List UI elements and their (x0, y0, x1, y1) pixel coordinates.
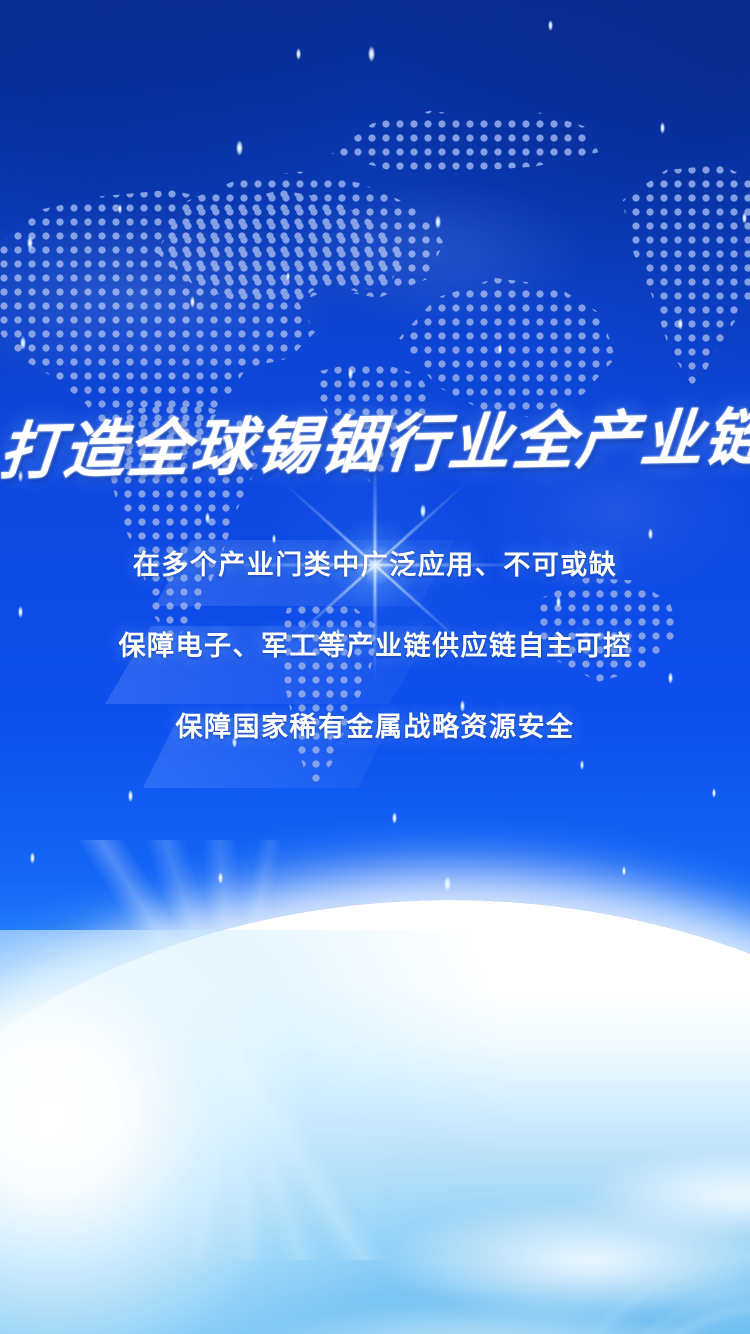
poster-content: 打造全球锡铟行业全产业链链主 在多个产业门类中广泛应用、不可或缺 保障电子、军工… (0, 0, 750, 1334)
poster-root: 打造全球锡铟行业全产业链链主 在多个产业门类中广泛应用、不可或缺 保障电子、军工… (0, 0, 750, 1334)
poster-subline-3: 保障国家稀有金属战略资源安全 (0, 714, 750, 741)
poster-subline-list: 在多个产业门类中广泛应用、不可或缺 保障电子、军工等产业链供应链自主可控 保障国… (0, 552, 750, 741)
poster-subline-1: 在多个产业门类中广泛应用、不可或缺 (0, 552, 750, 579)
poster-subline-2: 保障电子、军工等产业链供应链自主可控 (0, 633, 750, 660)
poster-headline: 打造全球锡铟行业全产业链链主 (0, 403, 750, 491)
